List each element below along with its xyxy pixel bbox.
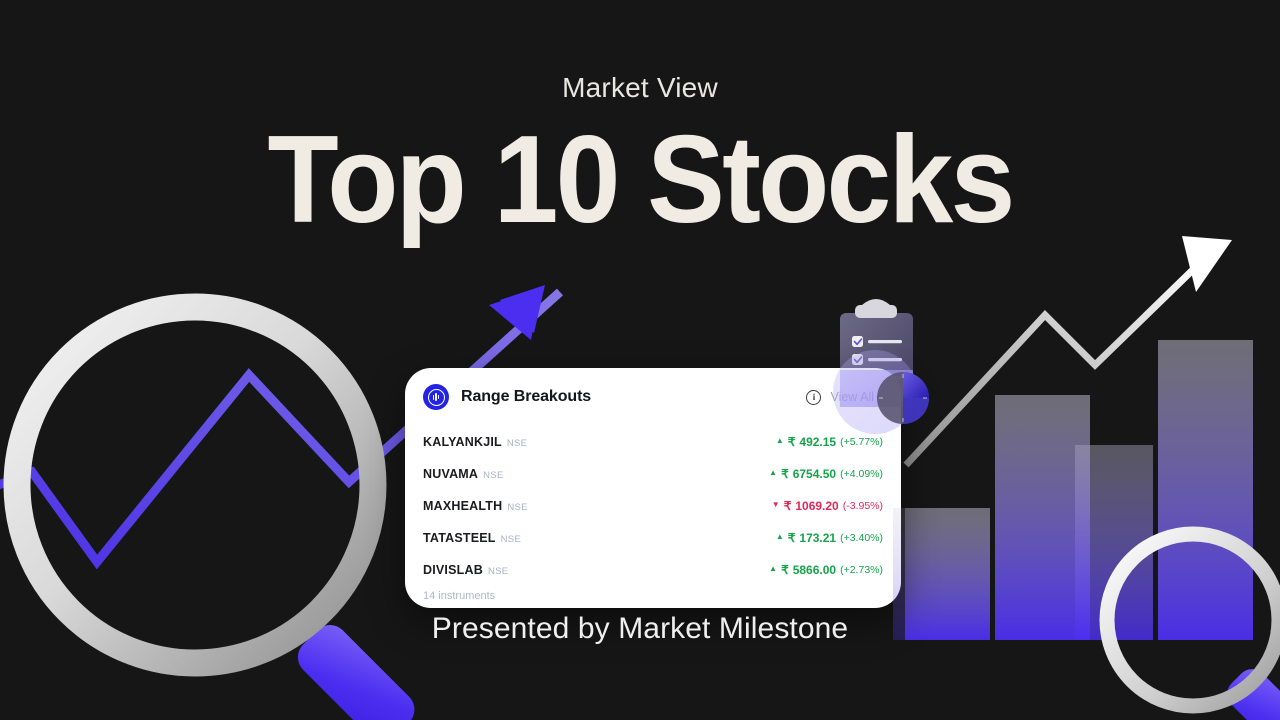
currency-symbol: ₹ (788, 531, 796, 545)
currency-symbol: ₹ (788, 435, 796, 449)
card-header: Range Breakouts i View All › (405, 368, 901, 426)
currency-symbol: ₹ (781, 563, 789, 577)
stock-name-cell: DIVISLABNSE (423, 561, 508, 579)
stock-exchange: NSE (507, 438, 527, 449)
view-all-label: View All (830, 390, 874, 404)
stock-name-cell: NUVAMANSE (423, 465, 504, 483)
eyebrow-label: Market View (0, 72, 1280, 104)
stock-exchange: NSE (507, 502, 527, 513)
triangle-up-icon: ▲ (776, 533, 784, 541)
info-icon[interactable]: i (806, 390, 821, 405)
currency-symbol: ₹ (784, 499, 792, 513)
stock-symbol: MAXHEALTH (423, 499, 502, 513)
stock-change: (+4.09%) (840, 468, 883, 480)
list-item[interactable]: TATASTEELNSE ▲ ₹ 173.21 (+3.40%) (423, 522, 883, 554)
stock-quote: ▲ ₹ 173.21 (+3.40%) (776, 531, 883, 545)
triangle-down-icon: ▼ (772, 501, 780, 509)
stock-price: 173.21 (799, 531, 836, 545)
view-all-link[interactable]: View All › (830, 390, 883, 404)
stock-quote: ▲ ₹ 6754.50 (+4.09%) (769, 467, 883, 481)
poster-canvas: Market View Top 10 Stocks Range Breakout… (0, 0, 1280, 720)
presented-by-label: Presented by Market Milestone (0, 612, 1280, 646)
stock-exchange: NSE (501, 534, 521, 545)
instrument-count: 14 instruments (405, 586, 901, 602)
range-breakouts-card[interactable]: Range Breakouts i View All › KALYANKJILN… (405, 368, 901, 608)
stock-change: (-3.95%) (843, 500, 883, 512)
decorative-bar-chart (905, 340, 1253, 640)
stock-symbol: DIVISLAB (423, 563, 483, 577)
stock-quote: ▲ ₹ 5866.00 (+2.73%) (769, 563, 883, 577)
list-item[interactable]: DIVISLABNSE ▲ ₹ 5866.00 (+2.73%) (423, 554, 883, 586)
triangle-up-icon: ▲ (776, 437, 784, 445)
list-item[interactable]: MAXHEALTHNSE ▼ ₹ 1069.20 (-3.95%) (423, 490, 883, 522)
stock-list: KALYANKJILNSE ▲ ₹ 492.15 (+5.77%) NUVAMA… (405, 426, 901, 586)
stock-name-cell: TATASTEELNSE (423, 529, 521, 547)
stock-name-cell: KALYANKJILNSE (423, 433, 527, 451)
stock-symbol: TATASTEEL (423, 531, 496, 545)
stock-symbol: KALYANKJIL (423, 435, 502, 449)
stock-quote: ▼ ₹ 1069.20 (-3.95%) (772, 499, 883, 513)
stock-name-cell: MAXHEALTHNSE (423, 497, 528, 515)
triangle-up-icon: ▲ (769, 469, 777, 477)
list-item[interactable]: NUVAMANSE ▲ ₹ 6754.50 (+4.09%) (423, 458, 883, 490)
trend-up-arrow-icon (906, 236, 1232, 465)
card-header-actions: i View All › (806, 390, 883, 405)
stock-price: 5866.00 (793, 563, 836, 577)
card-title: Range Breakouts (461, 388, 591, 406)
stock-change: (+5.77%) (840, 436, 883, 448)
stock-change: (+2.73%) (840, 564, 883, 576)
list-item[interactable]: KALYANKJILNSE ▲ ₹ 492.15 (+5.77%) (423, 426, 883, 458)
stock-change: (+3.40%) (840, 532, 883, 544)
stock-quote: ▲ ₹ 492.15 (+5.77%) (776, 435, 883, 449)
stock-exchange: NSE (488, 566, 508, 577)
triangle-up-icon: ▲ (769, 565, 777, 573)
chevron-right-icon: › (879, 390, 883, 404)
stock-price: 492.15 (799, 435, 836, 449)
stock-price: 6754.50 (793, 467, 836, 481)
bar-chart-circle-icon (423, 384, 449, 410)
stock-exchange: NSE (483, 470, 503, 481)
page-title: Top 10 Stocks (38, 118, 1241, 242)
stock-symbol: NUVAMA (423, 467, 478, 481)
stock-price: 1069.20 (795, 499, 838, 513)
currency-symbol: ₹ (781, 467, 789, 481)
